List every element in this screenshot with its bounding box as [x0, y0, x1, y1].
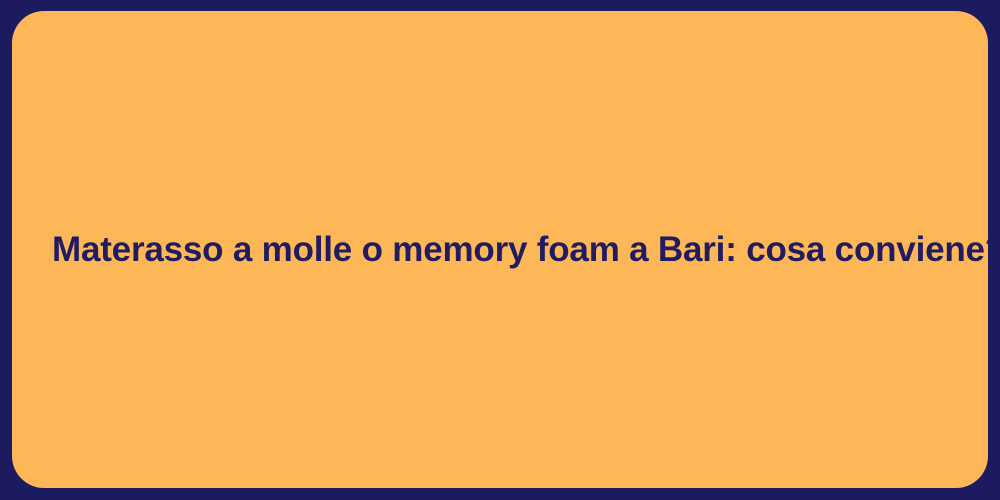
outer-frame: Materasso a molle o memory foam a Bari: …: [0, 0, 1000, 500]
title-card: Materasso a molle o memory foam a Bari: …: [12, 11, 988, 488]
title-container: Materasso a molle o memory foam a Bari: …: [12, 228, 988, 272]
page-title: Materasso a molle o memory foam a Bari: …: [52, 228, 948, 272]
